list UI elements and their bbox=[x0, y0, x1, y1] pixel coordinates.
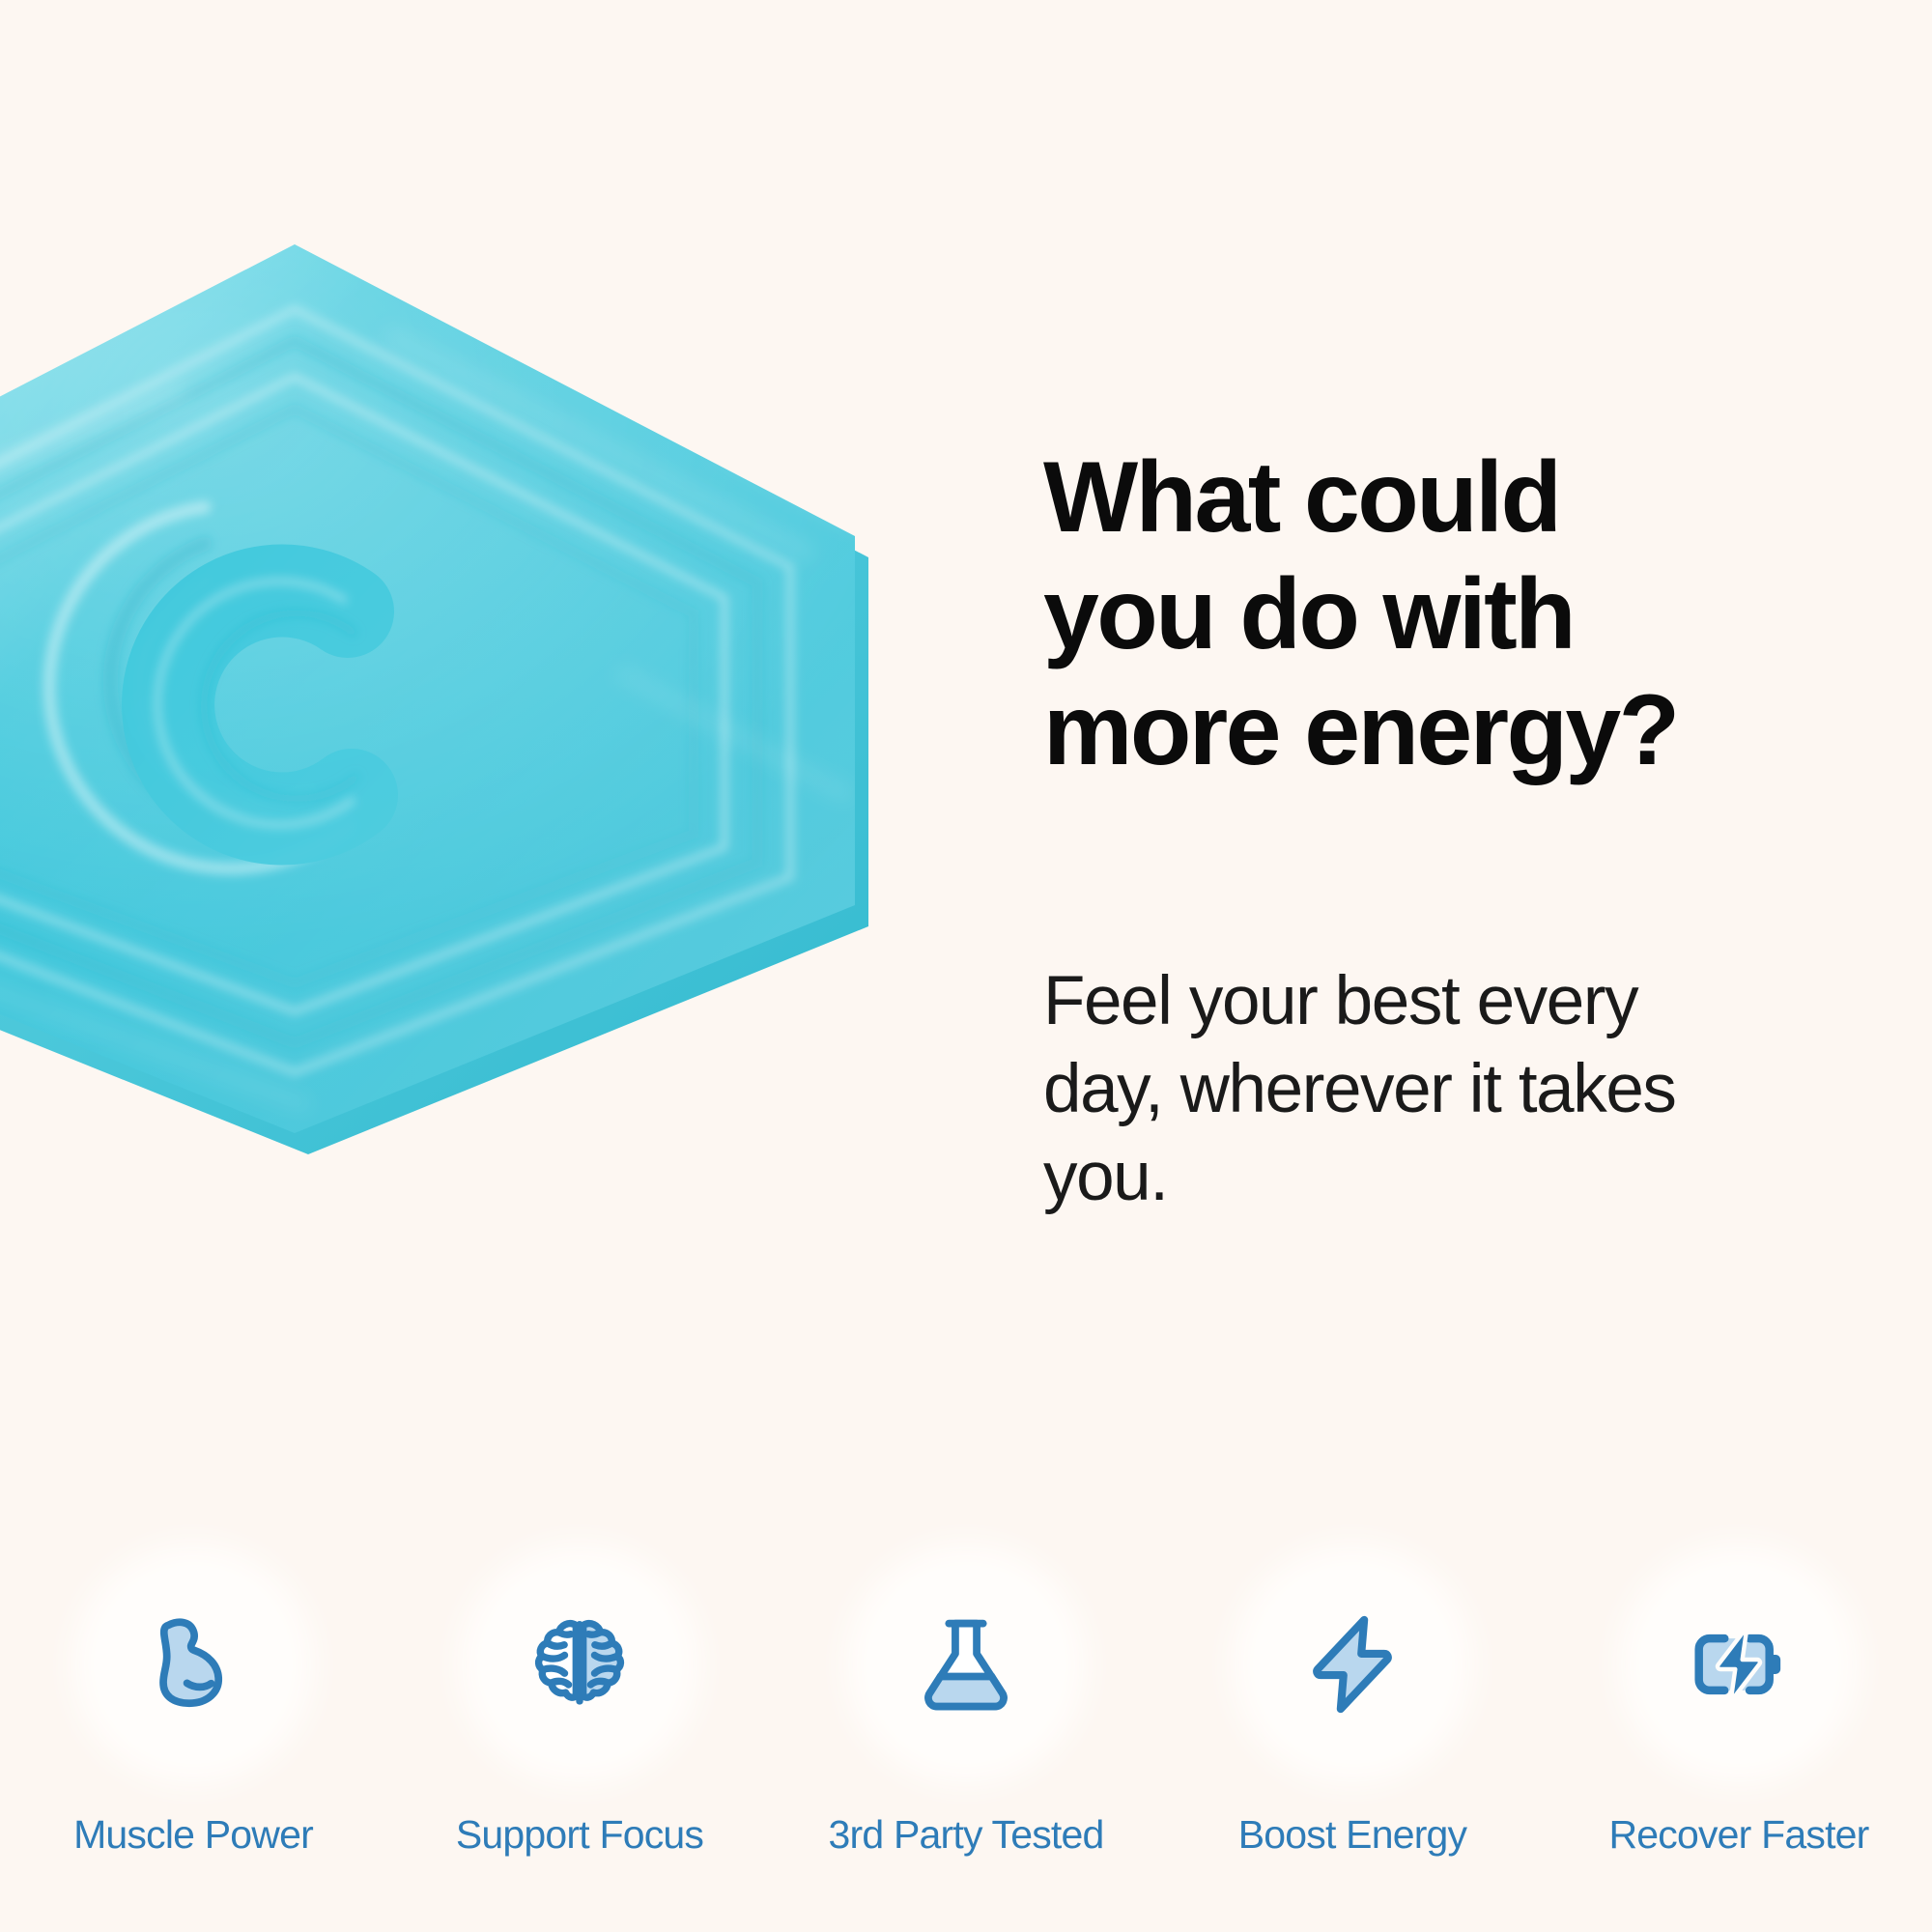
headline-line-3: more energy? bbox=[1043, 674, 1678, 786]
benefit-item-muscle-power: Muscle Power bbox=[0, 1565, 386, 1858]
product-hero-image bbox=[0, 217, 869, 1159]
subcopy-line-3: you. bbox=[1043, 1139, 1168, 1215]
flask-icon bbox=[909, 1607, 1023, 1721]
benefit-label: 3rd Party Tested bbox=[829, 1812, 1104, 1858]
benefit-icon-disc bbox=[480, 1565, 679, 1764]
page-headline: What could you do with more energy? bbox=[1043, 440, 1826, 789]
headline-line-1: What could bbox=[1043, 441, 1559, 554]
benefits-row: Muscle Power bbox=[0, 1565, 1932, 1858]
headline-line-2: you do with bbox=[1043, 558, 1574, 670]
subcopy-line-2: day, wherever it takes bbox=[1043, 1051, 1676, 1127]
hero-copy-block: What could you do with more energy? Feel… bbox=[1043, 440, 1826, 1222]
benefit-label: Boost Energy bbox=[1238, 1812, 1467, 1858]
benefit-item-support-focus: Support Focus bbox=[386, 1565, 773, 1858]
subcopy-line-1: Feel your best every bbox=[1043, 963, 1637, 1039]
benefit-label: Muscle Power bbox=[73, 1812, 313, 1858]
benefit-item-3rd-party-tested: 3rd Party Tested bbox=[773, 1565, 1159, 1858]
benefit-icon-disc bbox=[94, 1565, 293, 1764]
benefit-label: Recover Faster bbox=[1608, 1812, 1868, 1858]
page-subcopy: Feel your best every day, wherever it ta… bbox=[1043, 958, 1826, 1222]
benefit-label: Support Focus bbox=[456, 1812, 703, 1858]
benefit-item-recover-faster: Recover Faster bbox=[1546, 1565, 1932, 1858]
lightning-bolt-icon bbox=[1295, 1607, 1409, 1721]
benefit-icon-disc bbox=[867, 1565, 1065, 1764]
flexed-biceps-icon bbox=[136, 1607, 250, 1721]
benefit-item-boost-energy: Boost Energy bbox=[1159, 1565, 1546, 1858]
brain-icon bbox=[523, 1607, 637, 1721]
benefit-icon-disc bbox=[1639, 1565, 1838, 1764]
benefit-icon-disc bbox=[1253, 1565, 1452, 1764]
battery-charging-icon bbox=[1682, 1607, 1796, 1721]
